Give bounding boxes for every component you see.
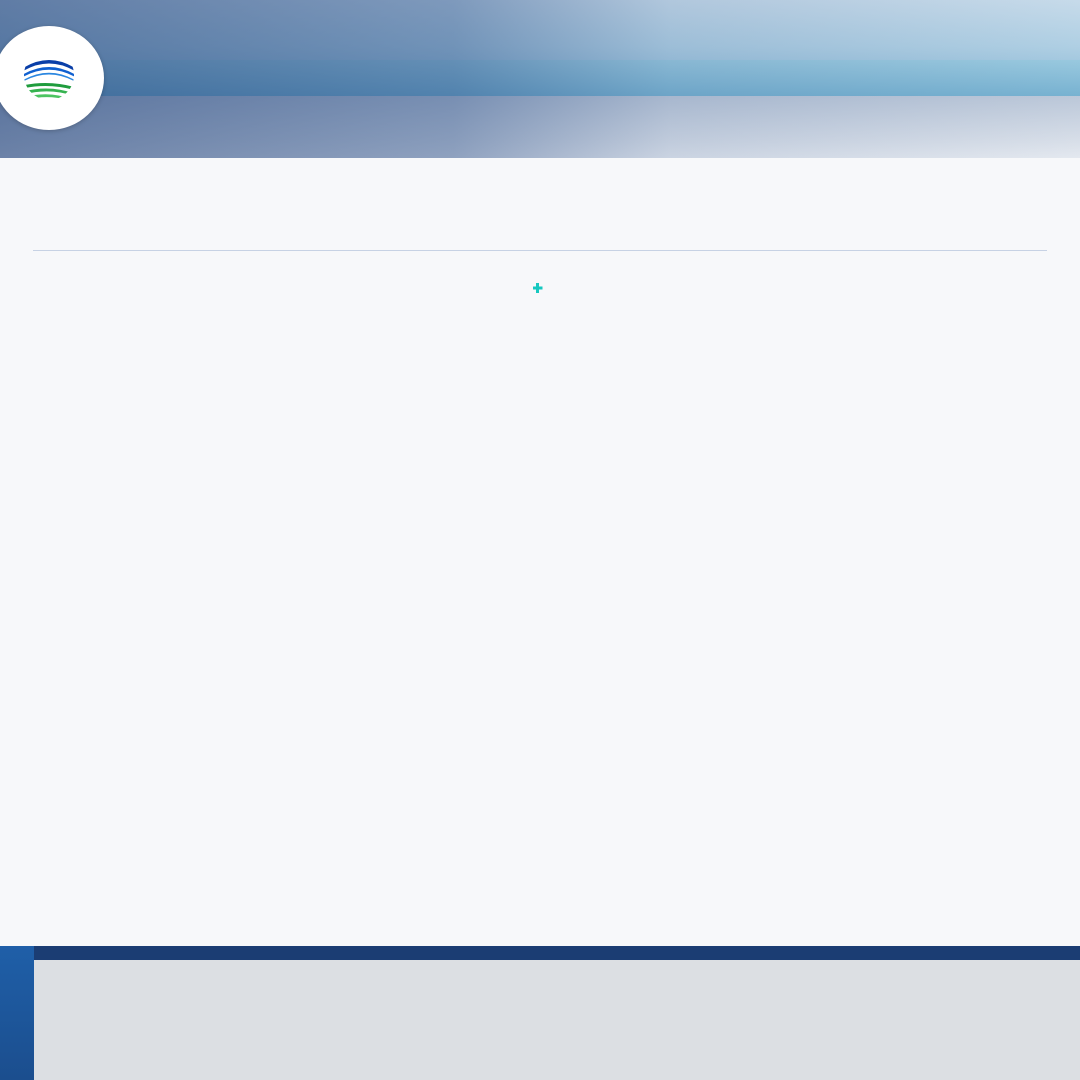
- sst-chart: [0, 250, 1080, 293]
- title-section: [0, 158, 1080, 184]
- legend-side-title: [0, 946, 34, 1080]
- bmkg-logo-mark: [16, 48, 82, 108]
- chart-legend: [33, 283, 1047, 293]
- header-overlay: [0, 0, 1080, 158]
- chart-x-axis-ticks: [33, 251, 1047, 281]
- legend-note: [34, 946, 1080, 960]
- legend-bar: [0, 946, 1080, 1080]
- header-text-block: [108, 30, 1072, 37]
- legend-items-row: [34, 960, 1080, 1080]
- page-header: [0, 0, 1080, 158]
- legend-body: [34, 946, 1080, 1080]
- legend-marker-icon: [533, 283, 543, 293]
